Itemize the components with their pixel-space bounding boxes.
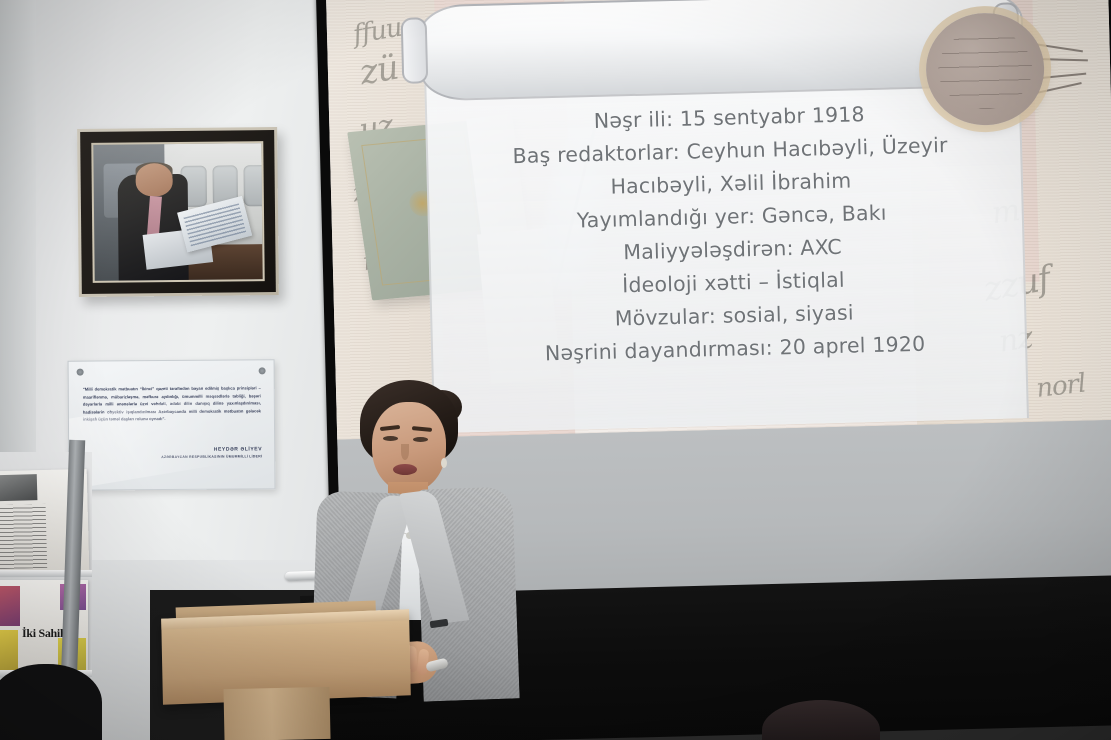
script-flourish-icon: norl (1035, 369, 1087, 404)
presenter-nose (401, 444, 409, 460)
plaque-screw-icon (259, 367, 266, 374)
newspaper-columns (0, 504, 47, 569)
newspaper-color-block (0, 586, 20, 626)
scroll-knob-left-icon (401, 17, 429, 84)
presenter-face (372, 402, 446, 492)
airplane-window-icon (243, 165, 263, 206)
portrait-subject-head (135, 163, 172, 196)
podium-column (223, 687, 330, 740)
portrait-mat (91, 141, 264, 283)
framed-portrait (77, 127, 279, 297)
portrait-photo (93, 143, 262, 281)
classroom-presentation-scene: ffuu zü uz zz m m zzuf nz norl (0, 0, 1111, 740)
slide-text-block: Nəşr ili: 15 sentyabr 1918 Baş redaktorl… (479, 95, 986, 372)
presenter-eye (383, 436, 398, 441)
newspaper-color-block (0, 630, 18, 670)
newspaper-photo (0, 474, 37, 501)
presenter-earring-icon (441, 458, 447, 468)
audience-member-left (0, 664, 102, 740)
script-flourish-icon: zü (357, 48, 401, 94)
quote-plaque: “Milli demokratik mətbuatın “İkinci” qəz… (68, 359, 276, 490)
presenter-eye (413, 437, 428, 442)
plaque-screw-icon (77, 369, 84, 376)
portrait-frame-black (80, 130, 276, 294)
presenter-mouth (393, 464, 417, 475)
newspaper-masthead: İki Sahil (22, 626, 63, 641)
